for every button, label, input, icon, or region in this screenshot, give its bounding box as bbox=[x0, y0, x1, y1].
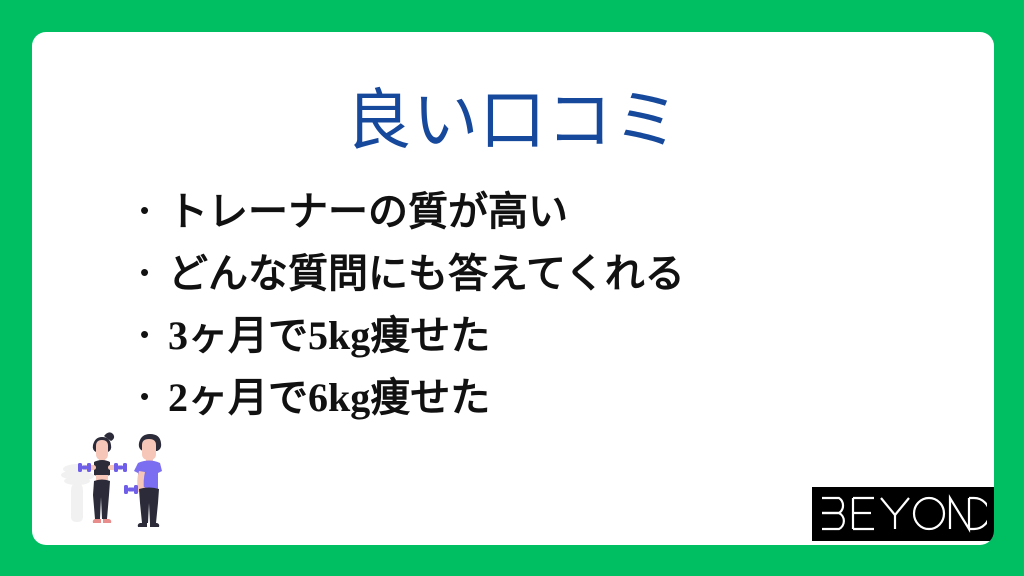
bullet-item-label: どんな質問にも答えてくれる bbox=[168, 254, 940, 294]
slide-root: 良い口コミ • トレーナーの質が高い • どんな質問にも答えてくれる • 3ヶ月… bbox=[0, 0, 1024, 576]
logo-letter-n bbox=[950, 498, 969, 529]
list-item: • トレーナーの質が高い bbox=[140, 192, 940, 254]
bullet-item-label: 3ヶ月で5kg痩せた bbox=[168, 316, 940, 356]
logo-letter-b bbox=[822, 498, 844, 529]
beyond-logo: BEYOND bbox=[812, 487, 994, 541]
bullet-item-label: 2ヶ月で6kg痩せた bbox=[168, 378, 940, 418]
bullet-point-icon: • bbox=[140, 259, 168, 285]
bullet-point-icon: • bbox=[140, 197, 168, 223]
bullet-item-label: トレーナーの質が高い bbox=[168, 192, 940, 232]
figure-man bbox=[124, 434, 162, 527]
list-item: • 2ヶ月で6kg痩せた bbox=[140, 378, 940, 440]
background-decor-shapes bbox=[61, 464, 94, 522]
logo-letter-y bbox=[881, 498, 909, 529]
list-item: • どんな質問にも答えてくれる bbox=[140, 254, 940, 316]
two-people-with-dumbbells-illustration bbox=[56, 425, 186, 545]
logo-letter-d bbox=[969, 498, 987, 529]
dumbbell-icon bbox=[124, 485, 138, 494]
page-title: 良い口コミ bbox=[32, 84, 994, 158]
bullet-point-icon: • bbox=[140, 383, 168, 409]
logo-letter-e bbox=[853, 498, 874, 529]
slide-card: 良い口コミ • トレーナーの質が高い • どんな質問にも答えてくれる • 3ヶ月… bbox=[32, 32, 994, 545]
logo-letter-o bbox=[914, 498, 944, 529]
bullet-list: • トレーナーの質が高い • どんな質問にも答えてくれる • 3ヶ月で5kg痩せ… bbox=[140, 192, 940, 440]
list-item: • 3ヶ月で5kg痩せた bbox=[140, 316, 940, 378]
bullet-point-icon: • bbox=[140, 321, 168, 347]
